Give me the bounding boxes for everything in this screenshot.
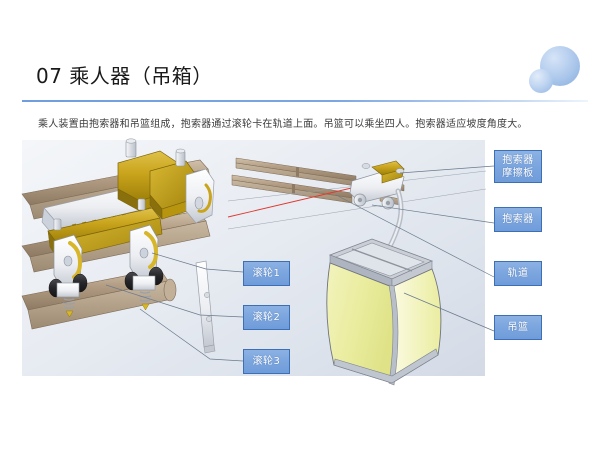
vertical-support-post [196,261,215,353]
leader-grip [372,205,494,223]
label-roller-2-text: 滚轮2 [253,312,281,324]
label-roller-3-text: 滚轮3 [253,356,281,368]
label-roller-1[interactable]: 滚轮1 [243,261,290,286]
label-grip[interactable]: 抱索器 [494,207,542,232]
label-cabin-text: 吊篮 [508,322,529,334]
diagram-area: 滚轮1 滚轮2 滚轮3 抱索器 摩擦板 抱索器 轨道 吊篮 [0,133,600,391]
label-grip-friction-plate-line2: 摩擦板 [502,167,534,180]
label-track-text: 轨道 [508,268,529,280]
label-grip-friction-plate-line1: 抱索器 [502,154,534,167]
white-hook-bracket [186,169,214,223]
decorative-circle-small-icon [529,69,553,93]
slide-root: 07 乘人器（吊箱） 乘人装置由抱索器和吊篮组成，抱索器通过滚轮卡在轨道上面。吊… [0,0,600,450]
label-roller-1-text: 滚轮1 [253,268,281,280]
grip-assembly-detail [22,139,215,353]
label-roller-3[interactable]: 滚轮3 [243,349,290,374]
slide-subtitle: 乘人装置由抱索器和吊篮组成，抱索器通过滚轮卡在轨道上面。吊篮可以乘坐四人。抱索器… [38,115,528,130]
decorative-circles-group [514,42,594,104]
label-grip-text: 抱索器 [502,214,534,226]
label-track[interactable]: 轨道 [494,261,542,286]
header-divider [22,100,588,102]
page-title: 07 乘人器（吊箱） [36,60,213,89]
label-grip-friction-plate[interactable]: 抱索器 摩擦板 [494,150,542,183]
leader-roller-3 [140,309,243,361]
label-roller-2[interactable]: 滚轮2 [243,305,290,330]
label-cabin[interactable]: 吊篮 [494,315,542,340]
